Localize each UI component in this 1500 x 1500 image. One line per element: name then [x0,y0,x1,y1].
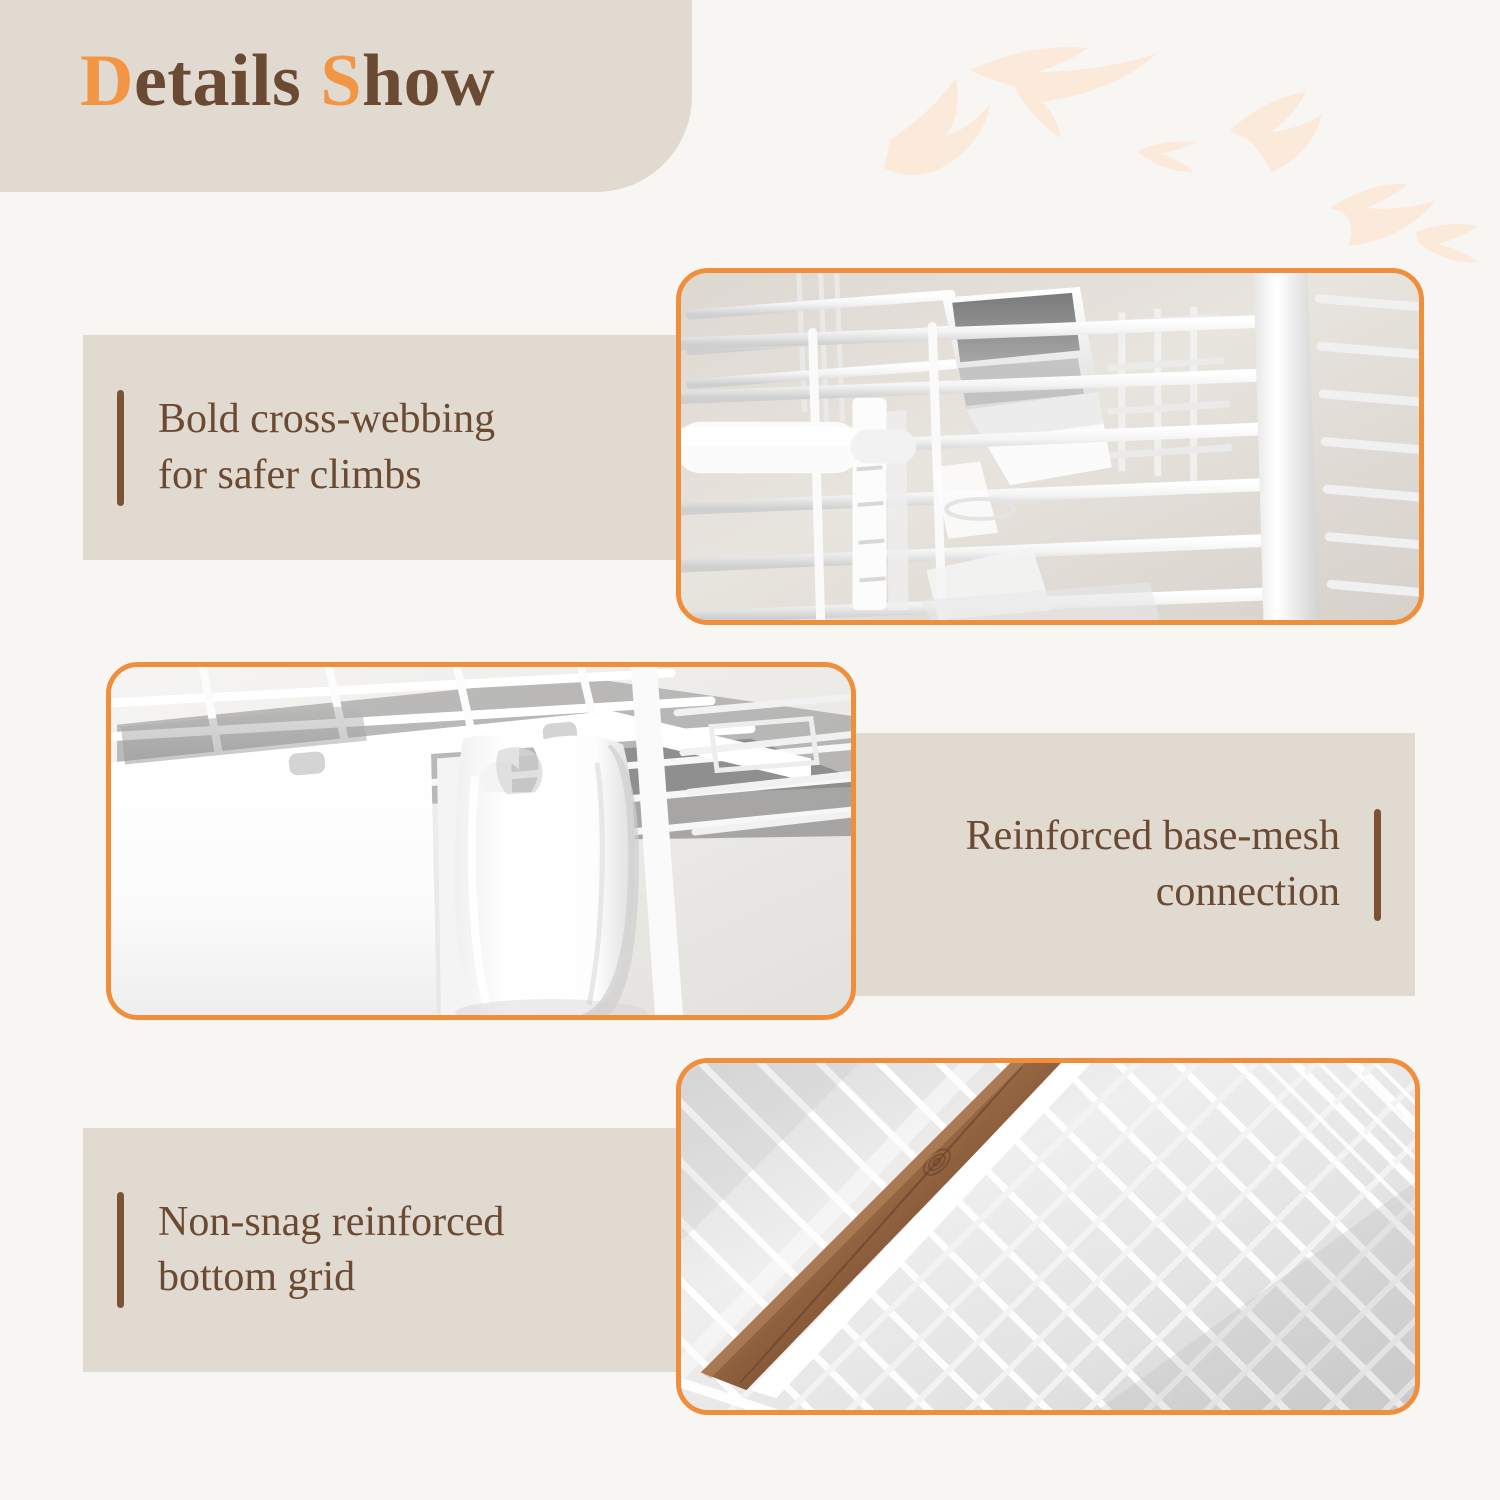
caption-plate-cross-webbing: Bold cross-webbing for safer climbs [83,335,690,560]
bird-icon [1416,224,1478,262]
cage-base-latch-photo [106,662,856,1020]
caption-line: Non-snag reinforced [158,1195,504,1250]
caption-text-cross-webbing: Bold cross-webbing for safer climbs [158,392,495,503]
caption-plate-bottom-grid: Non-snag reinforced bottom grid [83,1128,690,1372]
cage-bottom-grid-photo [676,1058,1420,1415]
page-title: Details Show [80,44,495,118]
caption-text-bottom-grid: Non-snag reinforced bottom grid [158,1195,504,1306]
header-band: Details Show [0,0,692,192]
caption-line: connection [966,865,1340,920]
page-title-accent-s: S [320,40,362,122]
caption-line: Reinforced base-mesh [966,809,1340,864]
caption-text-base-mesh: Reinforced base-mesh connection [966,809,1340,920]
caption-line: for safer climbs [158,448,495,503]
page-title-accent-d: D [80,40,134,122]
cage-cross-webbing-photo [676,268,1424,625]
caption-line: Bold cross-webbing [158,392,495,447]
accent-bar [117,390,124,506]
page-title-rest-1: etails [134,40,320,122]
decorative-birds [860,0,1500,300]
page-title-rest-2: how [362,40,495,122]
caption-plate-base-mesh: Reinforced base-mesh connection [852,733,1415,996]
bird-icon [970,47,1156,138]
bird-icon [1138,141,1196,172]
accent-bar [1374,809,1381,921]
caption-line: bottom grid [158,1250,504,1305]
bird-icon [1230,92,1322,172]
bird-icon [1330,184,1436,246]
bird-icon [884,78,990,175]
accent-bar [117,1192,124,1308]
